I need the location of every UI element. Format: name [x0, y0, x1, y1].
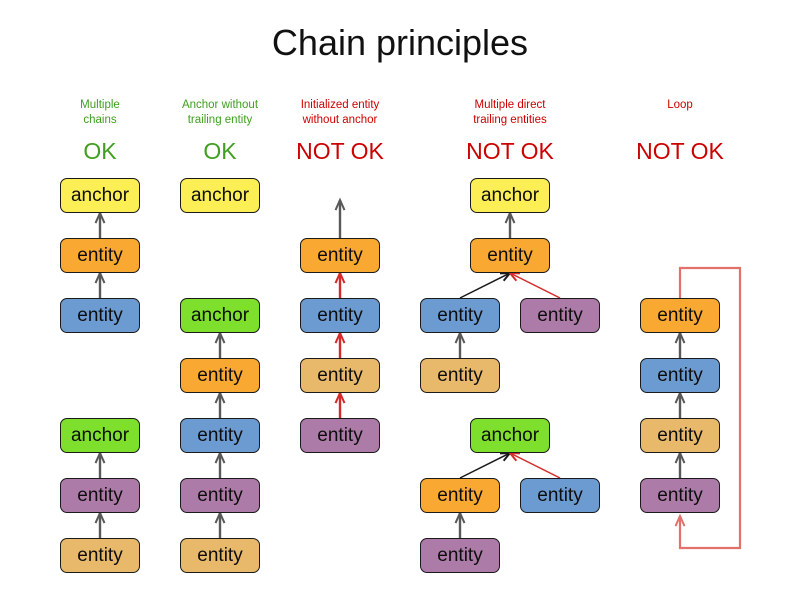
node-entity-multiple-direct-trailing-entities-1[interactable]: entity [470, 238, 550, 273]
node-entity-multiple-chains-5[interactable]: entity [60, 538, 140, 573]
node-entity-multiple-chains-2[interactable]: entity [60, 298, 140, 333]
node-entity-loop-3[interactable]: entity [640, 478, 720, 513]
node-entity-loop-0[interactable]: entity [640, 298, 720, 333]
node-entity-initialized-entity-without-anchor-3[interactable]: entity [300, 418, 380, 453]
node-entity-anchor-without-trailing-entity-3[interactable]: entity [180, 418, 260, 453]
edge-line [460, 273, 510, 298]
node-entity-anchor-without-trailing-entity-4[interactable]: entity [180, 478, 260, 513]
node-anchor-multiple-chains-3[interactable]: anchor [60, 418, 140, 453]
node-entity-multiple-chains-4[interactable]: entity [60, 478, 140, 513]
edge-line [510, 273, 560, 298]
node-entity-initialized-entity-without-anchor-2[interactable]: entity [300, 358, 380, 393]
node-entity-anchor-without-trailing-entity-2[interactable]: entity [180, 358, 260, 393]
node-entity-initialized-entity-without-anchor-0[interactable]: entity [300, 238, 380, 273]
diagram-canvas: Chain principles MultiplechainsOKAnchor … [0, 0, 800, 600]
node-entity-initialized-entity-without-anchor-1[interactable]: entity [300, 298, 380, 333]
node-entity-multiple-direct-trailing-entities-4[interactable]: entity [420, 358, 500, 393]
node-entity-multiple-direct-trailing-entities-6[interactable]: entity [420, 478, 500, 513]
node-anchor-anchor-without-trailing-entity-0[interactable]: anchor [180, 178, 260, 213]
node-entity-loop-2[interactable]: entity [640, 418, 720, 453]
node-entity-multiple-direct-trailing-entities-2[interactable]: entity [420, 298, 500, 333]
node-entity-loop-1[interactable]: entity [640, 358, 720, 393]
node-entity-multiple-direct-trailing-entities-8[interactable]: entity [420, 538, 500, 573]
edge-line [460, 453, 510, 478]
node-anchor-multiple-direct-trailing-entities-5[interactable]: anchor [470, 418, 550, 453]
node-entity-anchor-without-trailing-entity-5[interactable]: entity [180, 538, 260, 573]
node-entity-multiple-direct-trailing-entities-7[interactable]: entity [520, 478, 600, 513]
node-entity-multiple-chains-1[interactable]: entity [60, 238, 140, 273]
node-anchor-multiple-direct-trailing-entities-0[interactable]: anchor [470, 178, 550, 213]
edge-line [510, 453, 560, 478]
node-anchor-multiple-chains-0[interactable]: anchor [60, 178, 140, 213]
node-entity-multiple-direct-trailing-entities-3[interactable]: entity [520, 298, 600, 333]
node-anchor-anchor-without-trailing-entity-1[interactable]: anchor [180, 298, 260, 333]
